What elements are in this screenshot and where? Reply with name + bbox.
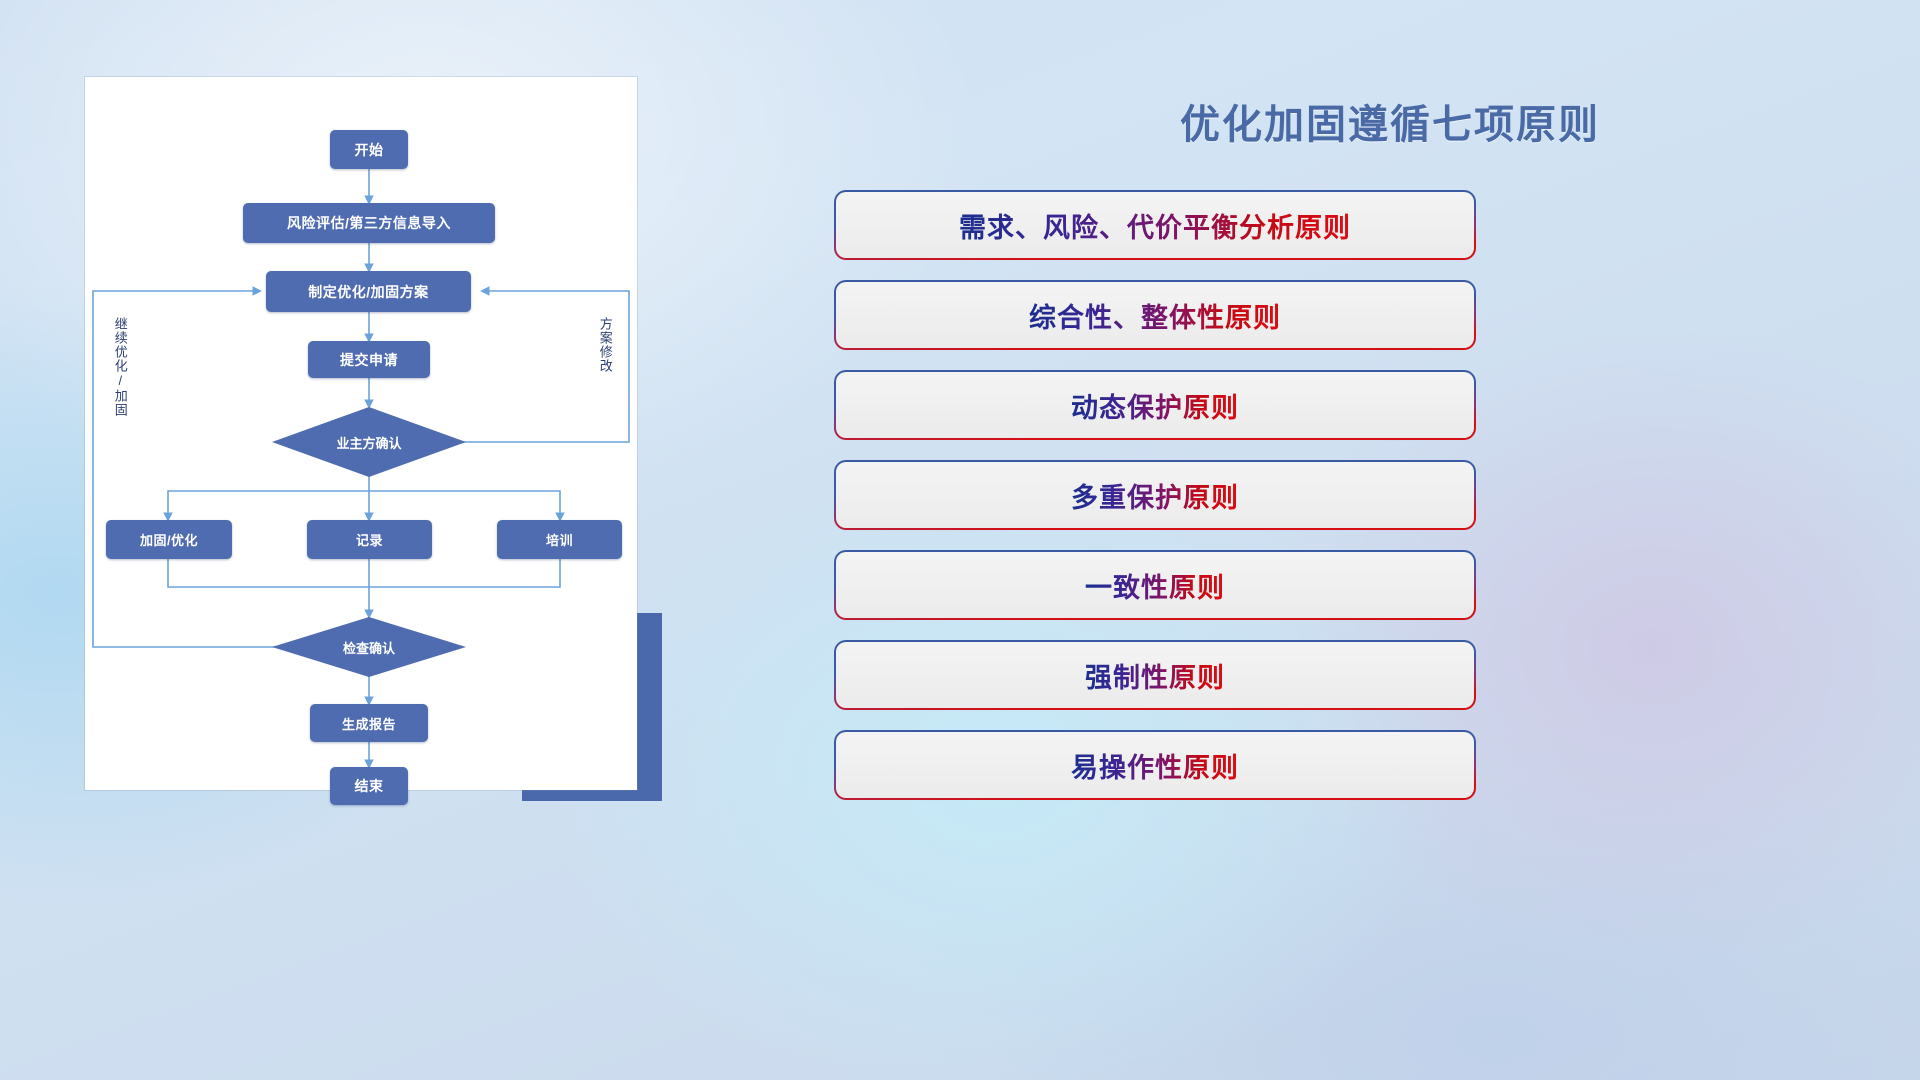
principle-card-label: 需求、风险、代价平衡分析原则 <box>959 206 1351 245</box>
principle-card[interactable]: 易操作性原则 <box>836 732 1474 798</box>
principle-card-label: 强制性原则 <box>1085 656 1225 695</box>
principle-card-label: 易操作性原则 <box>1071 746 1239 785</box>
principle-card-label: 综合性、整体性原则 <box>1029 296 1281 335</box>
principle-card-label: 动态保护原则 <box>1071 386 1239 425</box>
flow-node-label: 培训 <box>546 530 573 549</box>
flow-node-label: 记录 <box>356 530 383 549</box>
flow-node-generate-report[interactable]: 生成报告 <box>310 704 428 742</box>
principle-card-label: 多重保护原则 <box>1071 476 1239 515</box>
flow-node-check-confirm[interactable]: 检查确认 <box>272 617 466 677</box>
flow-node-label: 风险评估/第三方信息导入 <box>287 213 451 233</box>
flow-node-label: 加固/优化 <box>140 530 198 549</box>
flow-node-record[interactable]: 记录 <box>307 520 432 559</box>
principle-card[interactable]: 需求、风险、代价平衡分析原则 <box>836 192 1474 258</box>
flow-node-end[interactable]: 结束 <box>330 767 408 805</box>
flow-node-plan[interactable]: 制定优化/加固方案 <box>266 271 471 312</box>
flow-node-label: 提交申请 <box>340 350 398 370</box>
flow-node-reinforce[interactable]: 加固/优化 <box>106 520 232 559</box>
principles-pane: 优化加固遵循七项原则 需求、风险、代价平衡分析原则 综合性、整体性原则 动态保护… <box>960 0 1920 1080</box>
flow-node-risk-assessment[interactable]: 风险评估/第三方信息导入 <box>243 203 495 243</box>
flow-node-label: 检查确认 <box>343 638 395 657</box>
flow-node-label: 生成报告 <box>342 714 396 733</box>
flow-node-label: 业主方确认 <box>336 433 401 452</box>
flow-node-start[interactable]: 开始 <box>330 130 408 169</box>
flow-edge-label-plan-revision: 方案修改 <box>598 317 612 373</box>
principle-card[interactable]: 多重保护原则 <box>836 462 1474 528</box>
flowchart-card: 开始 风险评估/第三方信息导入 制定优化/加固方案 提交申请 业主方确认 加固/… <box>85 77 637 790</box>
principle-card-label: 一致性原则 <box>1085 566 1225 605</box>
principle-card[interactable]: 强制性原则 <box>836 642 1474 708</box>
flow-node-training[interactable]: 培训 <box>497 520 622 559</box>
flow-node-label: 结束 <box>355 776 384 796</box>
flow-node-label: 开始 <box>355 140 384 160</box>
flow-node-label: 制定优化/加固方案 <box>308 282 428 302</box>
principle-card[interactable]: 动态保护原则 <box>836 372 1474 438</box>
principle-card[interactable]: 综合性、整体性原则 <box>836 282 1474 348</box>
flow-node-submit-application[interactable]: 提交申请 <box>308 341 430 378</box>
flow-edge-label-continue-optimize: 继续优化/加固 <box>113 317 127 417</box>
principle-card[interactable]: 一致性原则 <box>836 552 1474 618</box>
flow-node-owner-confirm[interactable]: 业主方确认 <box>272 407 466 477</box>
principles-list: 需求、风险、代价平衡分析原则 综合性、整体性原则 动态保护原则 多重保护原则 一… <box>960 192 1920 822</box>
page-title: 优化加固遵循七项原则 <box>960 92 1820 150</box>
